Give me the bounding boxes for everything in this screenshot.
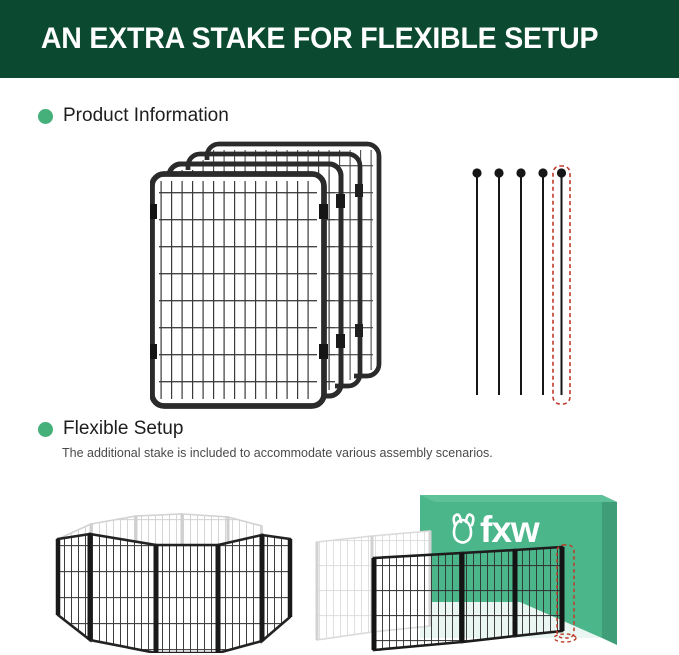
hinge-clip-icon: [150, 204, 157, 219]
stake-4: [538, 168, 547, 395]
page-title: AN EXTRA STAKE FOR FLEXIBLE SETUP: [0, 22, 598, 56]
fence-panel-front-1: [150, 174, 328, 406]
wall-setup-illustration: fxw: [312, 490, 679, 655]
octagonal-playpen-illustration: [22, 493, 322, 653]
stake-1: [472, 168, 481, 395]
hinge-clip-icon: [319, 344, 328, 359]
section-heading-flexible-setup: Flexible Setup: [38, 418, 183, 440]
hinge-clip-icon: [319, 204, 328, 219]
stake-3: [516, 168, 525, 395]
infographic-page: AN EXTRA STAKE FOR FLEXIBLE SETUP Produc…: [0, 0, 679, 655]
section-heading-product-information: Product Information: [38, 105, 229, 127]
pen-front-panels: [58, 534, 290, 653]
brand-wordmark: fxw: [480, 509, 540, 550]
ground-stakes-illustration: [465, 163, 575, 408]
bullet-dot-icon: [38, 422, 53, 437]
bullet-dot-icon: [38, 109, 53, 124]
section-label: Flexible Setup: [63, 418, 183, 440]
hinge-clip-icon: [150, 344, 157, 359]
header-banner: AN EXTRA STAKE FOR FLEXIBLE SETUP: [0, 0, 679, 78]
flexible-setup-description: The additional stake is included to acco…: [62, 446, 493, 460]
wall-front-panels: [374, 547, 562, 650]
stake-2: [494, 168, 503, 395]
section-label: Product Information: [63, 105, 229, 127]
stake-5-highlighted: [553, 166, 570, 404]
stacked-fence-panels-illustration: [150, 138, 385, 410]
